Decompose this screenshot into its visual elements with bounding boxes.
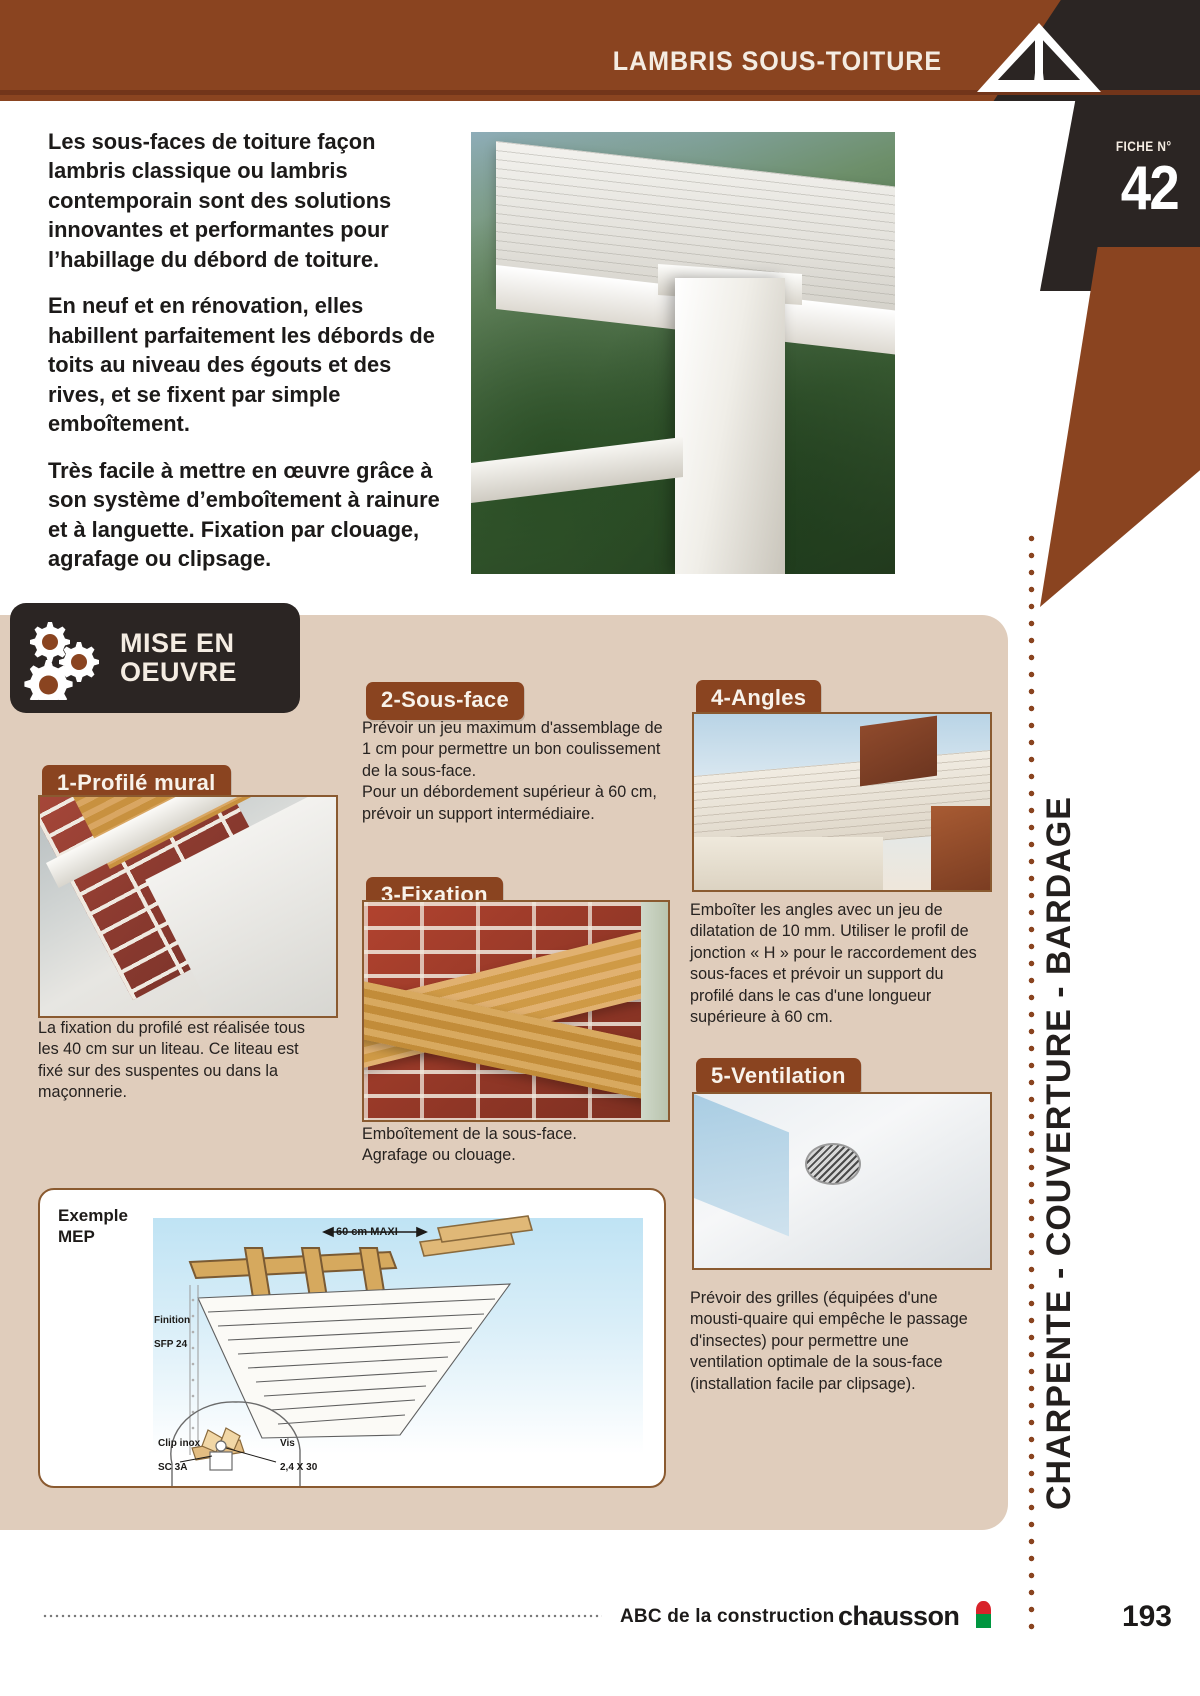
sidebar-dotted-rule	[1028, 530, 1035, 1635]
ventilation-grille-icon	[805, 1143, 861, 1185]
mise-en-oeuvre-line2: OEUVRE	[120, 658, 237, 687]
mise-en-oeuvre-badge: MISE EN OEUVRE	[10, 603, 300, 713]
mep-label-vis-line1: Vis	[280, 1438, 295, 1449]
mep-label-finition-line1: Finition	[154, 1315, 190, 1326]
footer-abc-label: ABC de la construction	[620, 1606, 834, 1628]
step-4-photo-beam-upper	[860, 716, 937, 787]
intro-text-block: Les sous-faces de toiture façon lambris …	[48, 127, 458, 591]
mep-label-clip: Clip inox SC 3A	[158, 1426, 200, 1474]
step-3-photo	[362, 900, 670, 1122]
footer-dotted-rule	[42, 1614, 602, 1618]
footer-brand-logo: chausson	[838, 1601, 959, 1632]
step-3-photo-edge	[641, 902, 668, 1120]
brand-mark-red	[976, 1601, 991, 1615]
page-number: 193	[1122, 1600, 1172, 1634]
step-1-photo	[38, 795, 338, 1018]
step-4-photo	[692, 712, 992, 892]
mep-label-clip-line1: Clip inox	[158, 1438, 200, 1449]
page-title: LAMBRIS SOUS-TOITURE	[613, 46, 942, 77]
step-4-caption: Emboîter les angles avec un jeu de dilat…	[690, 900, 984, 1029]
fiche-number: 42	[1121, 158, 1178, 220]
step-2-caption: Prévoir un jeu maximum d'assemblage de 1…	[362, 718, 666, 825]
fiche-label: FICHE N°	[1116, 138, 1172, 154]
gears-icon	[24, 616, 106, 700]
hero-photo-beam	[675, 278, 785, 574]
hero-photo	[468, 129, 898, 577]
step-label-5: 5-Ventilation	[696, 1058, 861, 1096]
sidebar-category: CHARPENTE - COUVERTURE - BARDAGE	[1040, 0, 1096, 610]
mise-en-oeuvre-line1: MISE EN	[120, 629, 237, 658]
brand-mark-green	[976, 1614, 991, 1628]
page-header: LAMBRIS SOUS-TOITURE	[0, 0, 1200, 101]
mep-label-vis-line2: 2,4 X 30	[280, 1462, 317, 1473]
step-5-photo	[692, 1092, 992, 1270]
intro-paragraph-3: Très facile à mettre en œuvre grâce à so…	[48, 456, 446, 574]
mep-label-dimension: 60 cm MAXI	[336, 1226, 398, 1239]
step-label-2: 2-Sous-face	[366, 682, 524, 720]
step-4-photo-beam-lower	[931, 806, 990, 890]
intro-paragraph-2: En neuf et en rénovation, elles habillen…	[48, 291, 446, 438]
step-4-photo-wall	[694, 837, 883, 890]
datasheet-page: LAMBRIS SOUS-TOITURE FICHE N° 42 CHARPEN…	[0, 0, 1200, 1696]
mise-en-oeuvre-title: MISE EN OEUVRE	[120, 629, 237, 686]
mep-label-finition-line2: SFP 24	[154, 1339, 187, 1350]
mep-label-finition: Finition SFP 24	[154, 1303, 190, 1351]
mep-diagram-box: Exemple MEP	[38, 1188, 666, 1488]
mep-label-clip-line2: SC 3A	[158, 1462, 187, 1473]
mep-label-vis: Vis 2,4 X 30	[280, 1426, 317, 1474]
step-3-caption: Emboîtement de la sous-face. Agrafage ou…	[362, 1124, 656, 1167]
step-5-caption: Prévoir des grilles (équipées d'une mous…	[690, 1288, 984, 1395]
brand-mark-icon	[976, 1601, 991, 1628]
intro-paragraph-1: Les sous-faces de toiture façon lambris …	[48, 127, 446, 274]
sidebar-category-label: CHARPENTE - COUVERTURE - BARDAGE	[1040, 610, 1079, 1510]
step-1-caption: La fixation du profilé est réalisée tous…	[38, 1018, 322, 1104]
